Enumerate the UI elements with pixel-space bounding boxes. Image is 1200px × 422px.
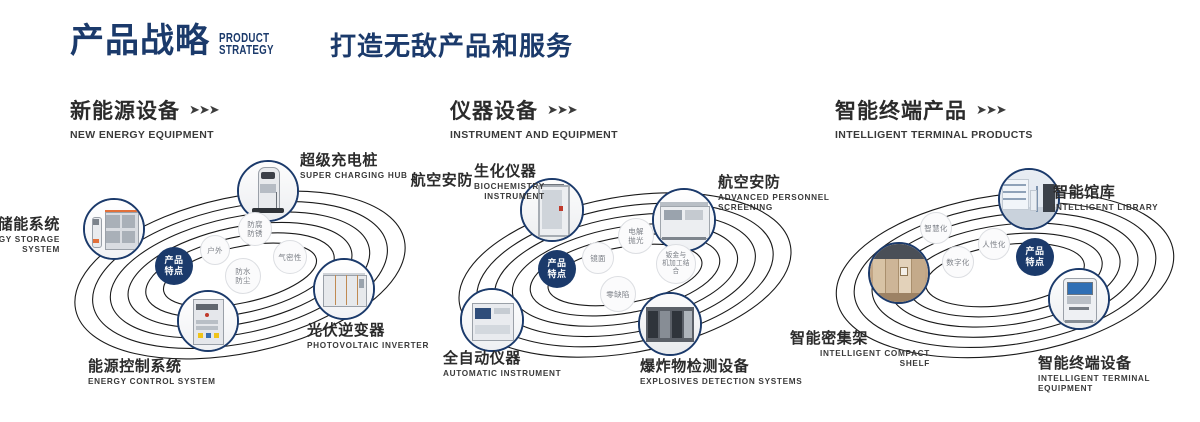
hub-product-features[interactable]: 产品特点	[155, 247, 193, 285]
feature-bubble: 智慧化	[920, 212, 952, 244]
caption-cn: 能源控制系统	[88, 358, 216, 375]
caption-advanced-personnel-screening: 航空安防 ADVANCED PERSONNEL SCREENING	[718, 174, 830, 213]
hub-label-line2: 特点	[547, 269, 566, 280]
node-energy-control-system[interactable]	[177, 290, 239, 352]
section-title-instrument: 仪器设备➤➤➤ INSTRUMENT AND EQUIPMENT	[450, 95, 618, 141]
hub-product-features[interactable]: 产品特点	[538, 250, 576, 288]
caption-cn: 智能终端设备	[1038, 355, 1200, 372]
feature-bubble: 气密性	[273, 240, 307, 274]
node-explosives-detection-systems[interactable]	[638, 292, 702, 356]
hub-product-features[interactable]: 产品特点	[1016, 238, 1054, 276]
caption-biochemistry-instrument: 生化仪器 BIOCHEMISTRY INSTRUMENT	[474, 163, 545, 202]
feature-bubble: 钣金与 机加工结合	[656, 244, 696, 284]
node-intelligent-terminal-equipment[interactable]	[1048, 268, 1110, 330]
section-title-cn: 智能终端产品	[835, 95, 967, 125]
feature-bubble: 数字化	[942, 246, 974, 278]
section-title-new-energy: 新能源设备➤➤➤ NEW ENERGY EQUIPMENT	[70, 95, 219, 141]
feature-bubble: 户外	[200, 235, 230, 265]
node-advanced-personnel-screening[interactable]	[652, 188, 716, 252]
feature-bubble: 防水 防尘	[225, 258, 261, 294]
feature-bubble: 电解 抛光	[618, 218, 654, 254]
caption-automatic-instrument: 全自动仪器 AUTOMATIC INSTRUMENT	[443, 350, 561, 379]
caption-intelligent-compact-shelf: 智能密集架 INTELLIGENT COMPACT SHELF	[790, 330, 930, 369]
section-title-en: INTELLIGENT TERMINAL PRODUCTS	[835, 129, 1033, 141]
chevron-right-icon: ➤➤➤	[547, 102, 577, 118]
product-strategy-page: 产品战略 PRODUCT STRATEGY 打造无敌产品和服务 新能源设备➤➤➤…	[0, 0, 1200, 422]
caption-cn: 智能馆库	[1053, 184, 1158, 201]
caption-cn: 智能密集架	[790, 330, 930, 347]
hub-label-line1: 产品	[164, 255, 183, 266]
hub-label-line2: 特点	[1025, 257, 1044, 268]
node-automatic-instrument[interactable]	[460, 288, 524, 352]
caption-en: ENERGY STORAGE SYSTEM	[0, 235, 60, 255]
feature-bubble: 镜面	[582, 242, 614, 274]
caption-en: AUTOMATIC INSTRUMENT	[443, 369, 561, 379]
caption-explosives-detection-systems: 爆炸物检测设备 EXPLOSIVES DETECTION SYSTEMS	[640, 358, 802, 387]
caption-en: INTELLIGENT COMPACT SHELF	[790, 349, 930, 369]
caption-en: ENERGY CONTROL SYSTEM	[88, 377, 216, 387]
caption-en: ADVANCED PERSONNEL SCREENING	[718, 193, 830, 213]
node-super-charging-hub[interactable]	[237, 160, 299, 222]
hub-label-line1: 产品	[1025, 246, 1044, 257]
brand-title-cn: 产品战略	[70, 24, 210, 58]
brand-header: 产品战略 PRODUCT STRATEGY	[70, 24, 289, 58]
brand-title-en: PRODUCT STRATEGY	[219, 33, 274, 56]
node-photovoltaic-inverter[interactable]	[313, 258, 375, 320]
caption-cn: 生化仪器	[474, 163, 545, 180]
caption-energy-storage-system: 储能系统 ENERGY STORAGE SYSTEM	[0, 216, 60, 255]
caption-en: INTELLIGENT TERMINAL EQUIPMENT	[1038, 374, 1200, 394]
caption-cn: 储能系统	[0, 216, 60, 233]
chevron-right-icon: ➤➤➤	[976, 102, 1006, 118]
caption-cn: 航空安防	[388, 172, 473, 189]
feature-bubble: 防腐 防锈	[238, 212, 272, 246]
caption-intelligent-terminal-equipment: 智能终端设备 INTELLIGENT TERMINAL EQUIPMENT	[1038, 355, 1200, 394]
hub-label-line1: 产品	[547, 258, 566, 269]
section-title-cn: 新能源设备	[70, 95, 180, 125]
section-title-en: NEW ENERGY EQUIPMENT	[70, 129, 219, 141]
caption-intelligent-library: 智能馆库 INTELLIGENT LIBRARY	[1053, 184, 1158, 213]
caption-cn: 爆炸物检测设备	[640, 358, 802, 375]
section-title-en: INSTRUMENT AND EQUIPMENT	[450, 129, 618, 141]
caption-cn: 航空安防	[718, 174, 830, 191]
chevron-right-icon: ➤➤➤	[189, 102, 219, 118]
feature-bubble: 人性化	[978, 228, 1010, 260]
node-energy-storage-system[interactable]	[83, 198, 145, 260]
caption-photovoltaic-inverter: 光伏逆变器 PHOTOVOLTAIC INVERTER	[307, 322, 429, 351]
caption-cn: 全自动仪器	[443, 350, 561, 367]
caption-en: EXPLOSIVES DETECTION SYSTEMS	[640, 377, 802, 387]
caption-en: BIOCHEMISTRY INSTRUMENT	[474, 182, 545, 202]
caption-en: INTELLIGENT LIBRARY	[1053, 203, 1158, 213]
node-intelligent-compact-shelf[interactable]	[868, 242, 930, 304]
caption-aviation-security: 航空安防	[388, 172, 473, 189]
caption-energy-control-system: 能源控制系统 ENERGY CONTROL SYSTEM	[88, 358, 216, 387]
feature-bubble: 零缺陷	[600, 276, 636, 312]
section-title-intelligent-terminal: 智能终端产品➤➤➤ INTELLIGENT TERMINAL PRODUCTS	[835, 95, 1033, 141]
page-headline: 打造无敌产品和服务	[330, 33, 573, 59]
caption-en: PHOTOVOLTAIC INVERTER	[307, 341, 429, 351]
node-intelligent-library[interactable]	[998, 168, 1060, 230]
hub-label-line2: 特点	[164, 266, 183, 277]
section-title-cn: 仪器设备	[450, 95, 538, 125]
caption-cn: 光伏逆变器	[307, 322, 429, 339]
caption-cn: 超级充电桩	[300, 152, 408, 169]
